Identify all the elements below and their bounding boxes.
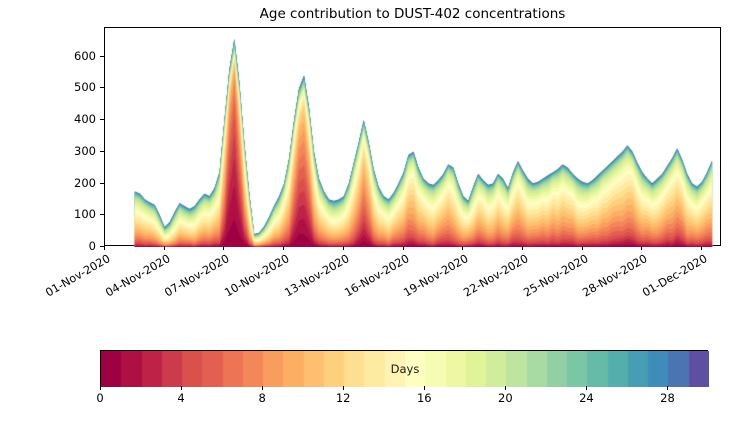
colorbar-tick-mark — [181, 386, 182, 390]
colorbar-tick-label: 0 — [96, 391, 103, 405]
colorbar-ticks: 0481216202428 — [100, 386, 708, 408]
colorbar: Days — [100, 350, 708, 386]
page-title: Age contribution to DUST-402 concentrati… — [104, 6, 721, 22]
colorbar-tick-mark — [343, 386, 344, 390]
y-tick-label: 600 — [74, 49, 96, 63]
colorbar-tick-label: 20 — [498, 391, 513, 405]
colorbar-tick-label: 28 — [660, 391, 675, 405]
colorbar-gradient — [101, 351, 709, 387]
y-tick-label: 100 — [74, 207, 96, 221]
y-tick-label: 0 — [89, 239, 96, 253]
stacked-area-chart — [105, 28, 722, 247]
x-tick-mark — [343, 246, 344, 250]
x-tick-mark — [582, 246, 583, 250]
x-axis-ticks: 01-Nov-202004-Nov-202007-Nov-202010-Nov-… — [104, 246, 721, 260]
x-tick-mark — [104, 246, 105, 250]
colorbar-tick-label: 8 — [258, 391, 265, 405]
y-axis-ticks: 0100200300400500600 — [64, 27, 104, 246]
y-tick-label: 200 — [74, 176, 96, 190]
y-axis-label-line2: (ng m⁻³) — [26, 0, 44, 18]
figure-root: Age contribution to DUST-402 concentrati… — [0, 0, 730, 425]
x-tick-mark — [641, 246, 642, 250]
colorbar-tick-label: 24 — [579, 391, 594, 405]
y-tick-label: 500 — [74, 80, 96, 94]
colorbar-tick-mark — [505, 386, 506, 390]
x-tick-mark — [522, 246, 523, 250]
colorbar-tick-label: 4 — [177, 391, 184, 405]
x-tick-mark — [223, 246, 224, 250]
y-axis-label-line1: DUST-402 concentration — [0, 0, 16, 18]
x-tick-mark — [164, 246, 165, 250]
colorbar-tick-mark — [586, 386, 587, 390]
colorbar-tick-label: 12 — [336, 391, 351, 405]
colorbar-tick-mark — [262, 386, 263, 390]
x-tick-mark — [403, 246, 404, 250]
colorbar-tick-mark — [100, 386, 101, 390]
y-tick-label: 400 — [74, 112, 96, 126]
colorbar-tick-mark — [424, 386, 425, 390]
x-tick-mark — [462, 246, 463, 250]
plot-area — [104, 27, 721, 246]
y-tick-label: 300 — [74, 144, 96, 158]
x-tick-mark — [283, 246, 284, 250]
x-tick-mark — [701, 246, 702, 250]
colorbar-tick-label: 16 — [417, 391, 432, 405]
colorbar-tick-mark — [667, 386, 668, 390]
